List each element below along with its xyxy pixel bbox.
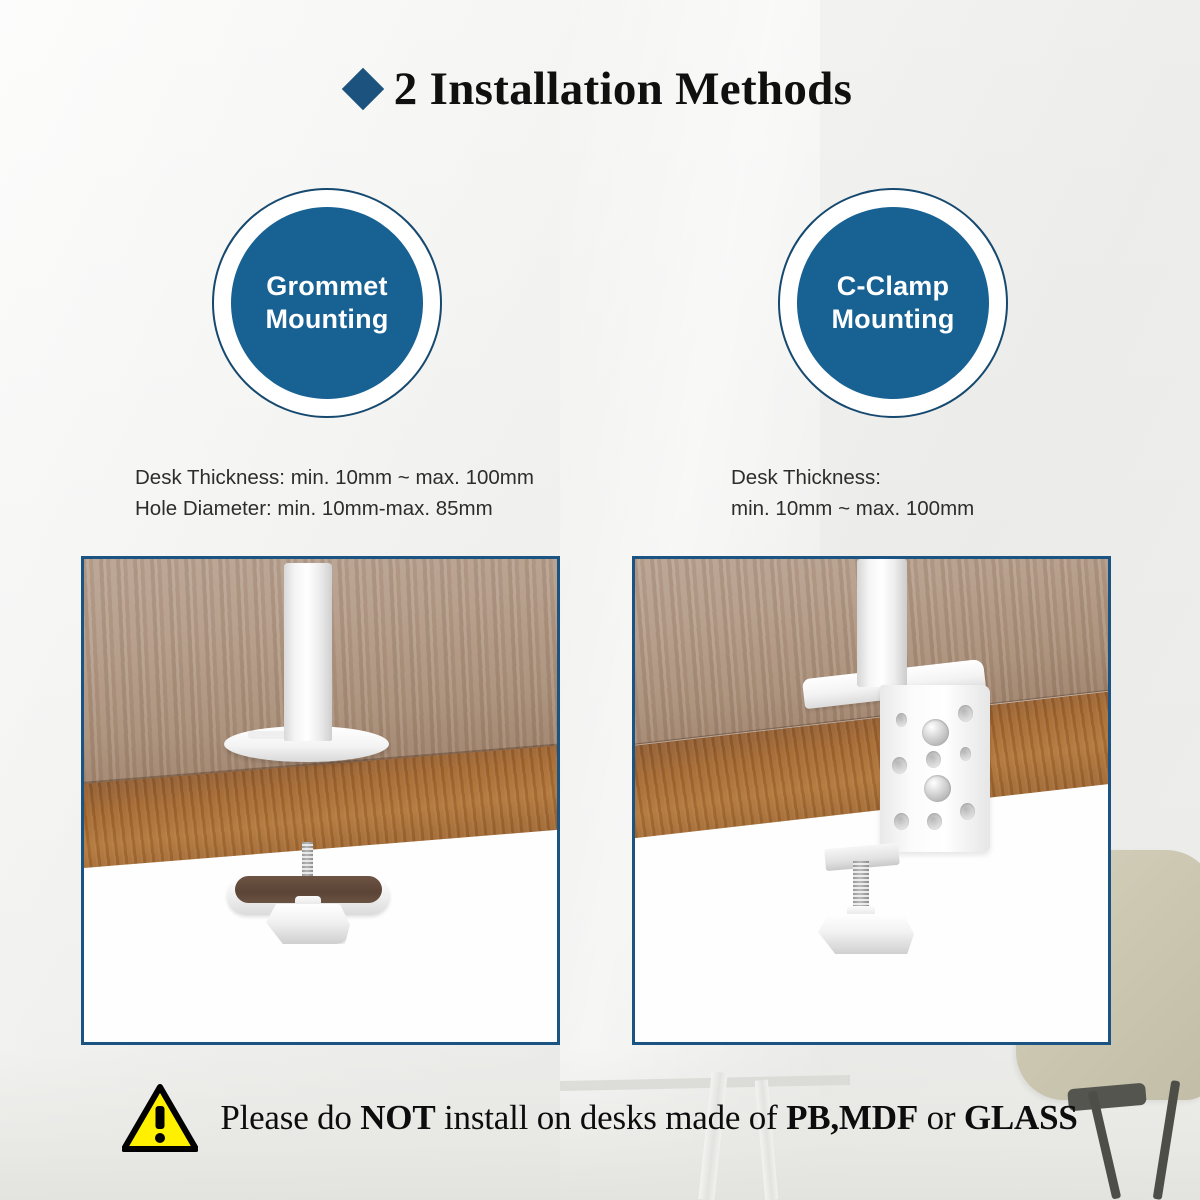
spec-grommet-line-1: Desk Thickness: min. 10mm ~ max. 100mm: [135, 462, 534, 493]
warning-text-part2: install on desks made of: [435, 1098, 786, 1137]
warning-text-materials: PB,MDF: [786, 1098, 918, 1137]
bracket-hole: [960, 747, 971, 761]
spec-cclamp: Desk Thickness: min. 10mm ~ max. 100mm: [731, 462, 974, 524]
bracket-hole: [892, 757, 907, 774]
spec-grommet: Desk Thickness: min. 10mm ~ max. 100mm H…: [135, 462, 534, 524]
photo-grommet-mounting: [81, 556, 560, 1045]
bracket-hole: [894, 813, 909, 830]
page-title: 2 Installation Methods: [0, 62, 1200, 116]
warning-triangle-icon: [122, 1084, 198, 1152]
warning-text-glass: GLASS: [964, 1098, 1078, 1137]
bracket-hole: [896, 713, 907, 727]
badge-cclamp-line-1: C-Clamp: [837, 270, 949, 303]
bracket-hole: [924, 775, 951, 802]
cclamp-bracket-body: [880, 685, 990, 852]
bracket-hole: [922, 719, 949, 746]
monitor-pole: [284, 563, 332, 741]
warning-text-part3: or: [918, 1098, 964, 1137]
badge-cclamp-inner: C-Clamp Mounting: [797, 207, 989, 399]
badge-cclamp-line-2: Mounting: [831, 303, 954, 336]
badge-cclamp-mounting: C-Clamp Mounting: [778, 188, 1008, 418]
cclamp-tightening-knob: [818, 914, 914, 954]
bracket-hole: [926, 751, 941, 768]
diamond-icon: [342, 68, 384, 110]
bracket-hole: [960, 803, 975, 820]
badge-grommet-line-2: Mounting: [265, 303, 388, 336]
photo-cclamp-mounting: [632, 556, 1111, 1045]
monitor-pole: [857, 559, 907, 687]
warning-text: Please do NOT install on desks made of P…: [220, 1098, 1077, 1138]
spec-grommet-line-2: Hole Diameter: min. 10mm-max. 85mm: [135, 493, 534, 524]
bracket-hole: [927, 813, 942, 830]
bracket-hole: [958, 705, 973, 722]
page-title-text: 2 Installation Methods: [394, 62, 852, 116]
badge-grommet-inner: Grommet Mounting: [231, 207, 423, 399]
warning-text-not: NOT: [360, 1098, 435, 1137]
badge-grommet-line-1: Grommet: [266, 270, 387, 303]
warning-text-part1: Please do: [220, 1098, 360, 1137]
spec-cclamp-line-2: min. 10mm ~ max. 100mm: [731, 493, 974, 524]
grommet-scene: [84, 559, 557, 1042]
grommet-tightening-knob: [266, 904, 350, 944]
infographic-page: 2 Installation Methods Grommet Mounting …: [0, 0, 1200, 1200]
spec-cclamp-line-1: Desk Thickness:: [731, 462, 974, 493]
cclamp-scene: [635, 559, 1108, 1042]
warning-banner: Please do NOT install on desks made of P…: [0, 1084, 1200, 1152]
badge-grommet-mounting: Grommet Mounting: [212, 188, 442, 418]
